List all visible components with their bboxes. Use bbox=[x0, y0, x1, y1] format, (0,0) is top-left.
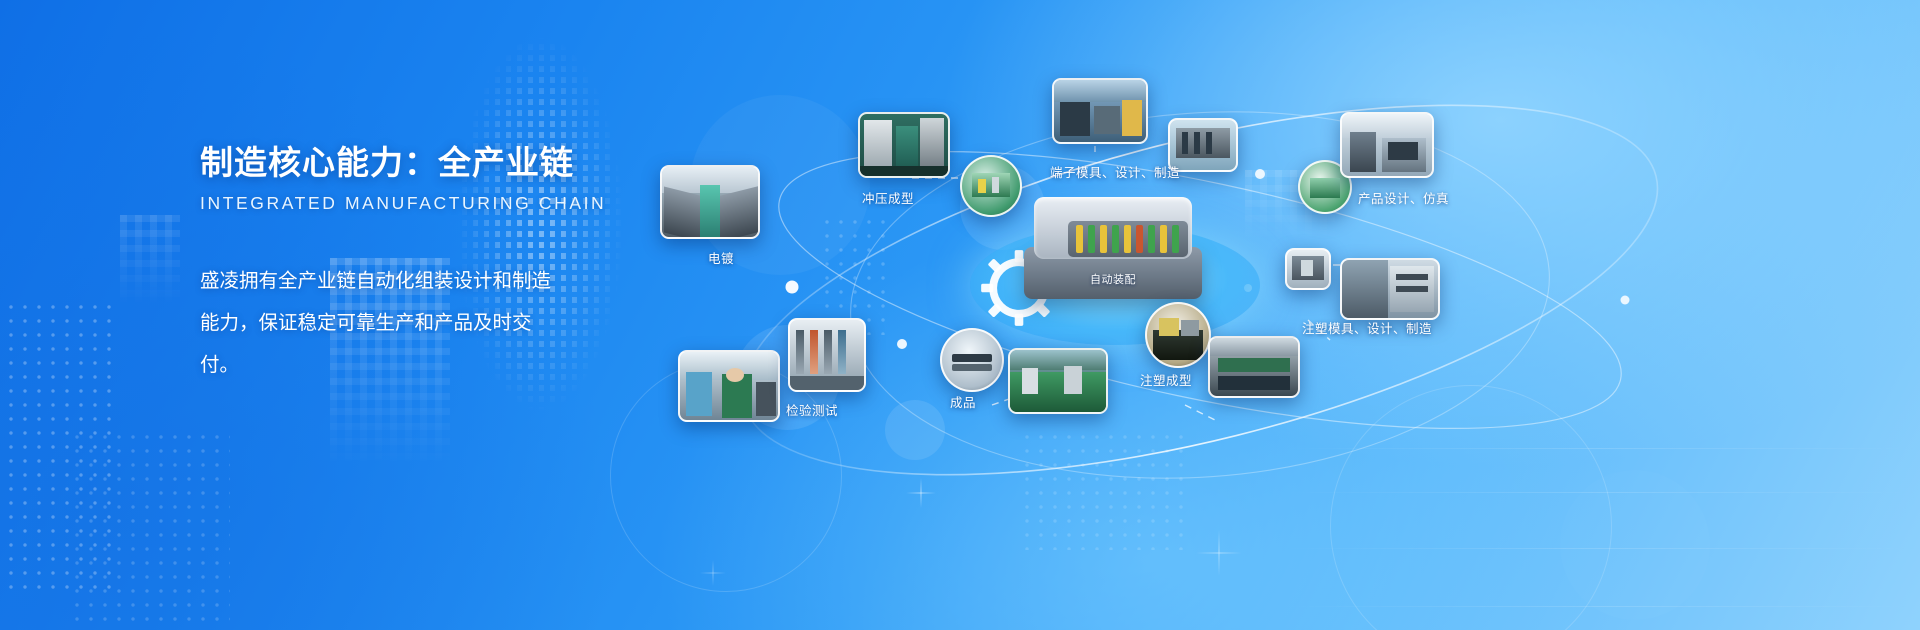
terminal-mold-caption: 端子模具、设计、制造 bbox=[1050, 162, 1180, 181]
injection-forming-caption: 注塑成型 bbox=[1140, 370, 1192, 389]
manufacturing-chain-diagram: 自动装配 电镀 冲压成型 bbox=[640, 60, 1920, 560]
factory-line-thumbnail[interactable] bbox=[1008, 348, 1108, 414]
stamping-caption: 冲压成型 bbox=[862, 188, 914, 207]
dot-pattern-bottom-left bbox=[70, 430, 230, 630]
dot-pattern-left bbox=[0, 300, 120, 590]
plating-caption: 电镀 bbox=[708, 248, 734, 267]
page-subtitle: INTEGRATED MANUFACTURING CHAIN bbox=[200, 193, 600, 214]
injection-forming-thumbnail[interactable] bbox=[1145, 302, 1211, 368]
hero-description: 盛凌拥有全产业链自动化组装设计和制造能力，保证稳定可靠生产和产品及时交付。 bbox=[200, 260, 556, 386]
mold-green-thumbnail[interactable] bbox=[960, 155, 1022, 217]
injection-mold-thumbnail-small[interactable] bbox=[1285, 248, 1331, 290]
injection-mold-thumbnail[interactable] bbox=[1340, 258, 1440, 320]
hero-banner: 制造核心能力：全产业链 INTEGRATED MANUFACTURING CHA… bbox=[0, 0, 1920, 630]
inspection-test-thumbnail-left[interactable] bbox=[678, 350, 780, 422]
inspection-test-thumbnail-right[interactable] bbox=[788, 318, 866, 392]
assembly-line-right-thumbnail[interactable] bbox=[1208, 336, 1300, 398]
finished-goods-thumbnail[interactable] bbox=[940, 328, 1004, 392]
orbit-paths bbox=[640, 60, 1920, 560]
square-pattern-left bbox=[120, 215, 180, 305]
stamping-thumbnail[interactable] bbox=[858, 112, 950, 178]
terminal-mold-thumbnail[interactable] bbox=[1052, 78, 1148, 144]
automatic-assembly-machine: 自动装配 bbox=[1018, 185, 1208, 315]
sparkle-3 bbox=[700, 560, 726, 586]
page-title: 制造核心能力：全产业链 bbox=[200, 142, 600, 183]
product-design-thumbnail[interactable] bbox=[1340, 112, 1434, 178]
hero-copy: 制造核心能力：全产业链 INTEGRATED MANUFACTURING CHA… bbox=[200, 142, 600, 386]
product-design-caption: 产品设计、仿真 bbox=[1358, 188, 1449, 207]
finished-goods-caption: 成品 bbox=[950, 392, 976, 411]
plating-thumbnail[interactable] bbox=[660, 165, 760, 239]
center-label: 自动装配 bbox=[1018, 271, 1208, 287]
inspection-test-caption: 检验测试 bbox=[786, 400, 838, 419]
injection-mold-caption: 注塑模具、设计、制造 bbox=[1302, 318, 1432, 337]
